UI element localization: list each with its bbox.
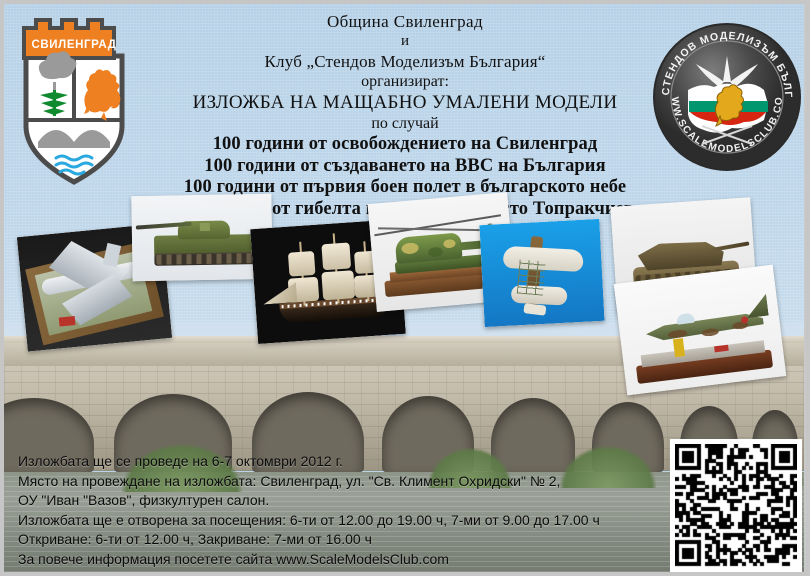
event-poster: СВИЛЕНГРАД	[0, 0, 810, 576]
poster-frame	[0, 0, 810, 576]
